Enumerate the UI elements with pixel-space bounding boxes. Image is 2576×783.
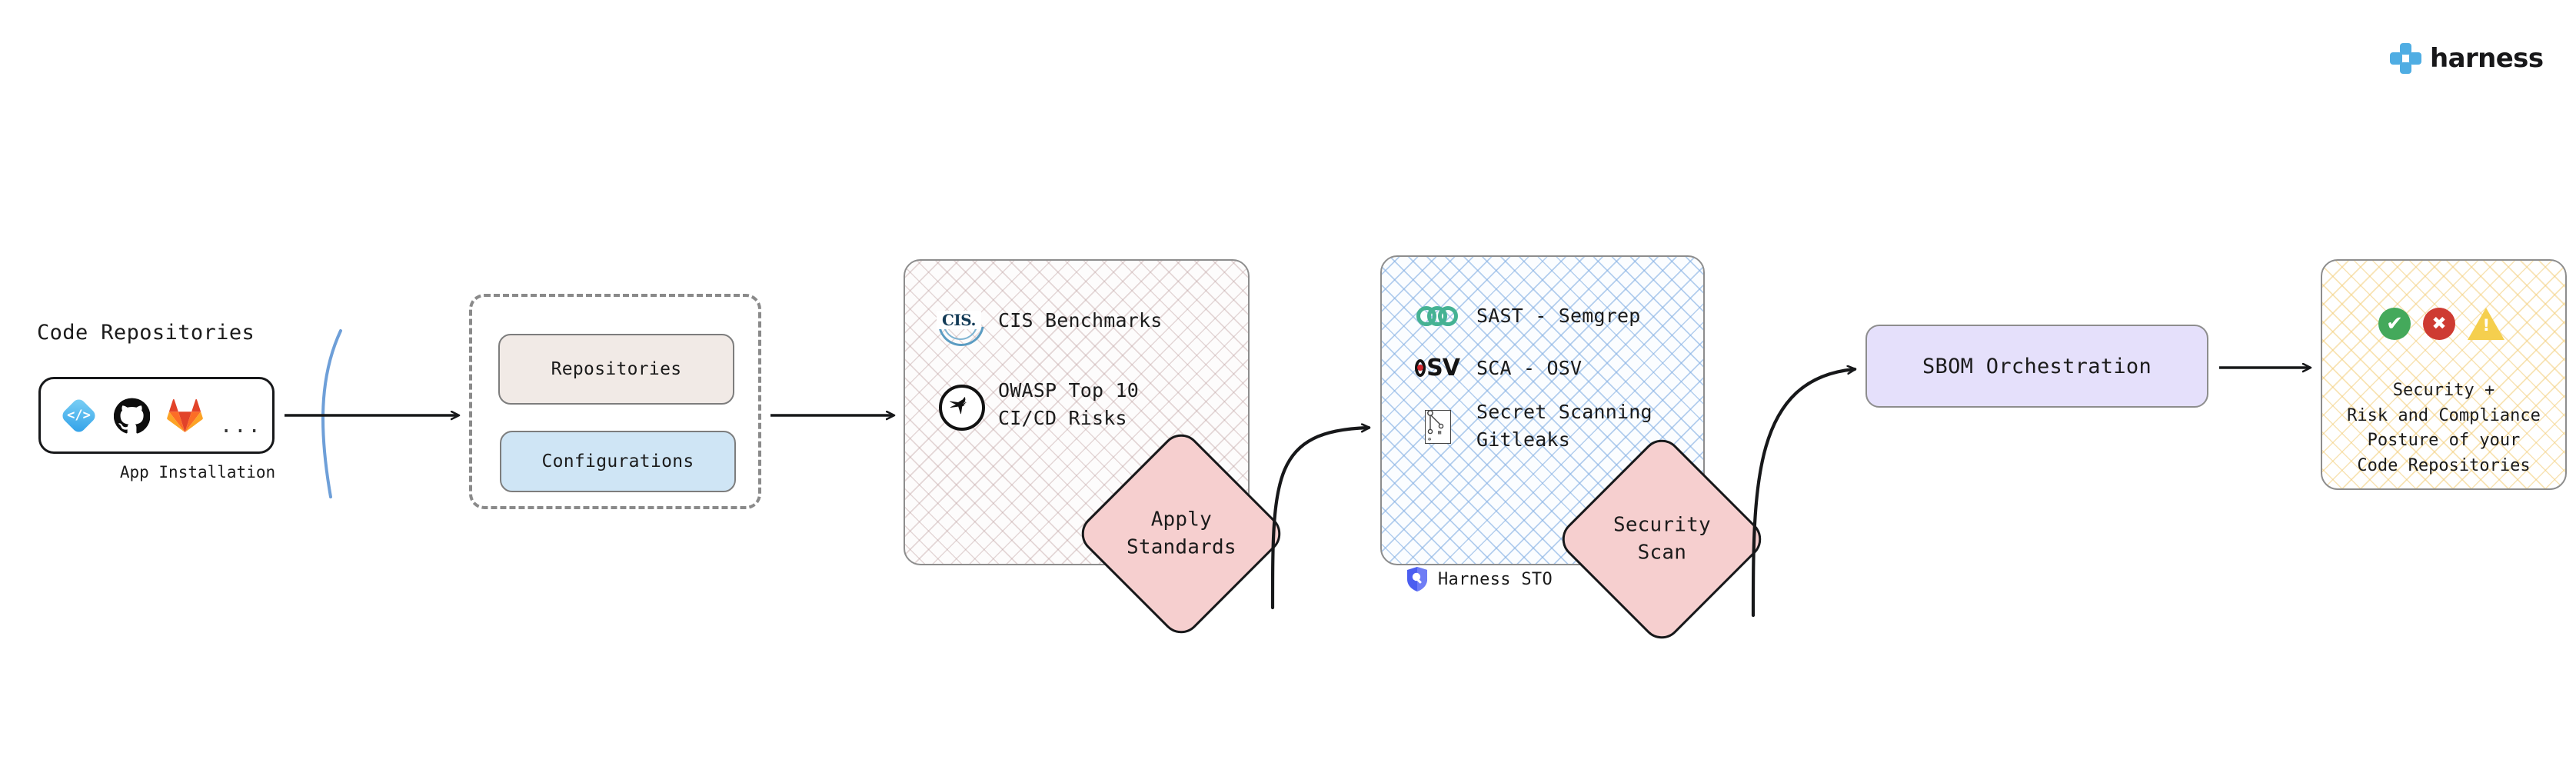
harness-sto-shield-icon — [1406, 566, 1429, 592]
github-icon — [114, 398, 150, 434]
outcome-description: Security + Risk and Compliance Posture o… — [2330, 378, 2558, 478]
harness-logo: harness — [2390, 40, 2567, 77]
scan-item-label: SCA - OSV — [1476, 355, 1582, 382]
apply-standards-label: Apply Standards — [1127, 506, 1236, 561]
svg-text:✻: ✻ — [1428, 436, 1432, 442]
ellipsis-icon: ... — [220, 414, 262, 438]
harness-wordmark: harness — [2430, 45, 2543, 72]
standards-item-cis: CIS. CIS Benchmarks — [937, 298, 1163, 343]
code-repositories-title: Code Repositories — [37, 321, 255, 345]
osv-logo-icon: SV — [1415, 346, 1459, 391]
scan-item-secret-scanning: ▦ ✻ Secret Scanning Gitleaks — [1415, 398, 1652, 453]
warning-triangle-icon — [2468, 308, 2504, 340]
check-circle-icon: ✔ — [2378, 308, 2411, 340]
scan-item-sca: SV SCA - OSV — [1415, 346, 1582, 391]
gitleaks-logo-icon: ▦ ✻ — [1415, 404, 1459, 448]
scan-item-label: SAST - Semgrep — [1476, 302, 1641, 330]
semgrep-logo-icon — [1415, 294, 1459, 338]
harness-sto-label: Harness STO — [1438, 570, 1553, 589]
chip-configurations[interactable]: Configurations — [500, 431, 736, 492]
sbom-orchestration-label: SBOM Orchestration — [1922, 355, 2152, 378]
standards-item-owasp: OWASP Top 10 CI/CD Risks — [937, 377, 1139, 431]
svg-text:▦: ▦ — [1438, 429, 1442, 435]
harness-sto-badge: Harness STO — [1406, 566, 1553, 592]
scan-item-label: Secret Scanning Gitleaks — [1476, 398, 1652, 453]
chip-repositories[interactable]: Repositories — [498, 334, 734, 405]
owasp-logo-icon — [937, 382, 981, 427]
error-circle-icon: ✖ — [2423, 308, 2455, 340]
code-repositories-box: </> ... — [38, 377, 275, 454]
diagram-canvas: harness Code Repositories </> ... App In… — [0, 0, 2576, 783]
arrow-apply-to-scan — [1273, 428, 1369, 608]
app-installation-annotation: App Installation — [117, 461, 278, 483]
gitlab-icon — [167, 398, 203, 434]
scan-item-sast: SAST - Semgrep — [1415, 294, 1641, 338]
security-scan-label: Security Scan — [1613, 511, 1711, 567]
cis-logo-icon: CIS. — [937, 298, 981, 343]
harness-diamond-logo-icon — [2390, 43, 2421, 75]
sbom-orchestration-card: SBOM Orchestration — [1865, 325, 2208, 408]
outcome-status-icons: ✔ ✖ — [2365, 308, 2518, 340]
standards-item-label: OWASP Top 10 CI/CD Risks — [998, 377, 1139, 431]
standards-item-label: CIS Benchmarks — [998, 307, 1163, 335]
app-installation-arc — [323, 331, 341, 497]
harness-code-icon: </> — [61, 398, 97, 434]
arrow-scan-to-sbom — [1753, 369, 1855, 615]
